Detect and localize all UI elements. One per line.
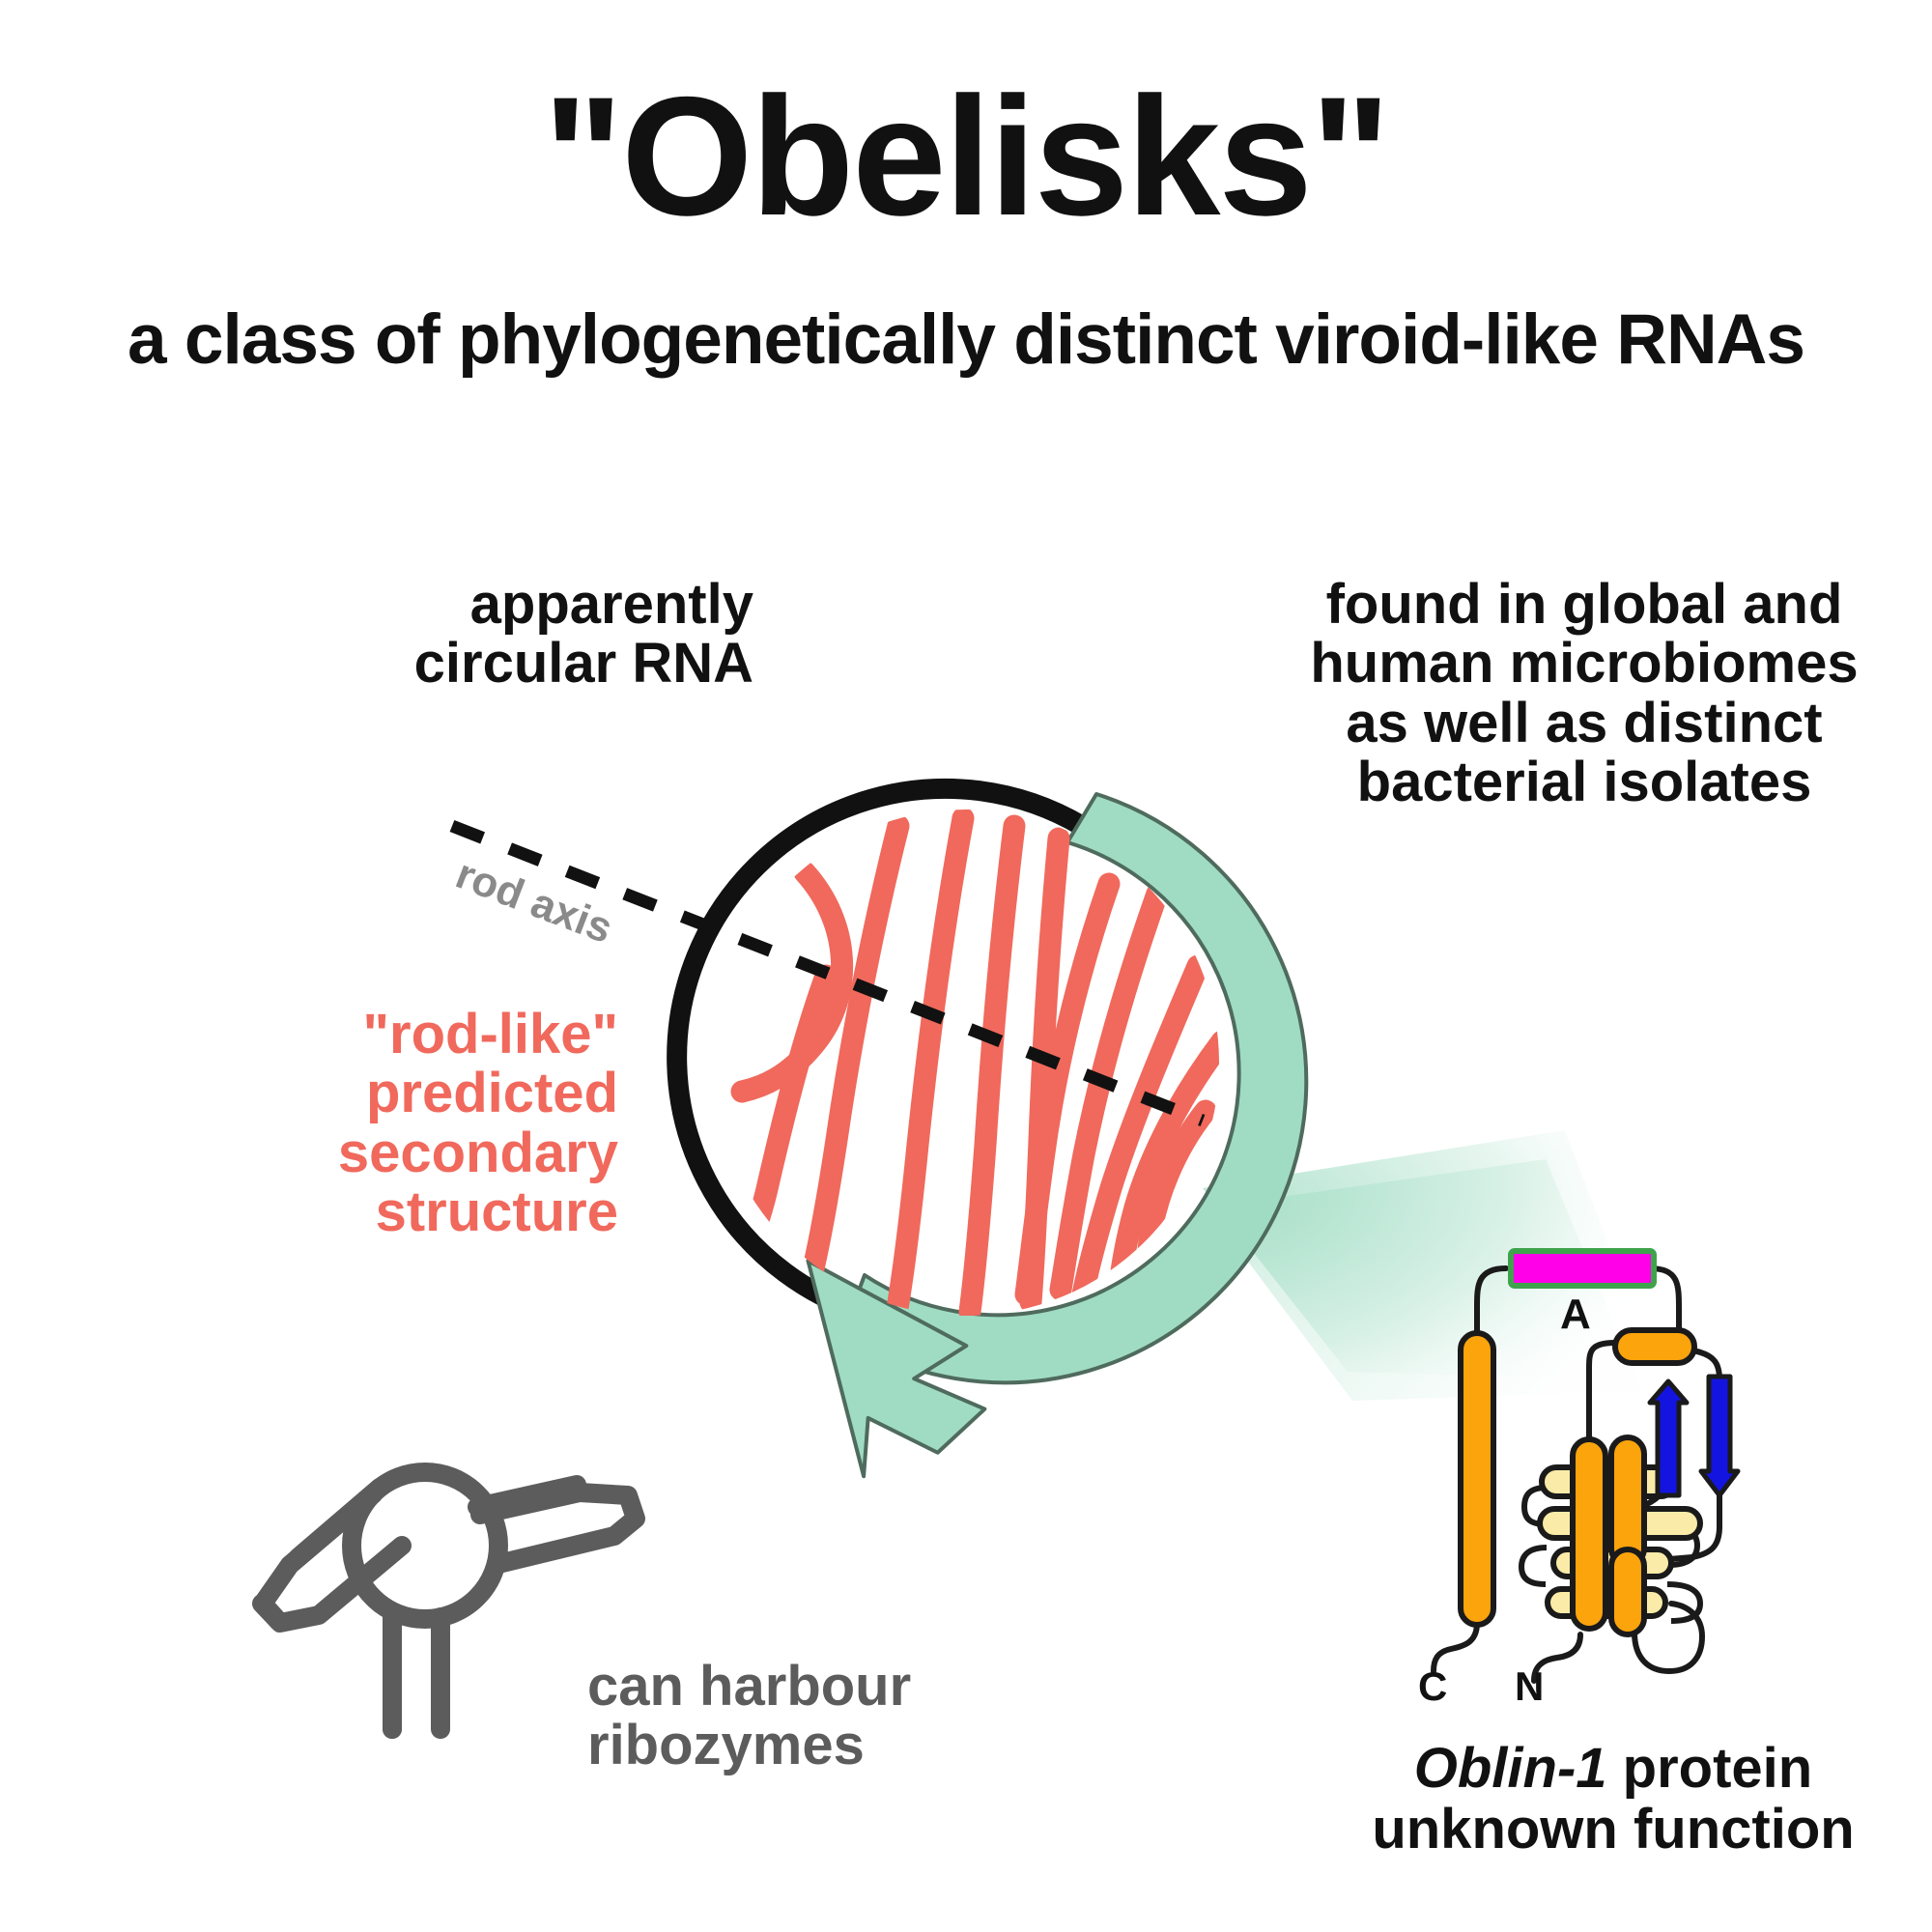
- annotation-oblin-1: Oblin-1 protein unknown function: [1304, 1739, 1922, 1860]
- hammerhead-ribozyme-icon: [262, 1472, 636, 1729]
- annotation-rod-like: "rod-like" predicted secondary structure: [251, 1005, 618, 1242]
- illustration-layer: [0, 0, 1932, 1932]
- domain-a-box: [1511, 1251, 1654, 1286]
- oblin-protein-suffix: protein: [1607, 1737, 1813, 1800]
- rod-like-secondary-structure: [734, 818, 1230, 1325]
- domain-a-label: A: [1560, 1291, 1591, 1339]
- annotation-circular-rna: apparently circular RNA: [290, 575, 753, 694]
- annotation-ribozymes: can harbour ribozymes: [587, 1657, 993, 1776]
- c-terminus-label: C: [1418, 1663, 1447, 1710]
- oblin-line-1: Oblin-1 protein: [1304, 1739, 1922, 1800]
- beta-strands: [1650, 1377, 1738, 1495]
- annotation-found-in: found in global and human microbiomes as…: [1285, 575, 1884, 812]
- oblin-line-2: unknown function: [1304, 1800, 1922, 1861]
- oblin-protein-name: Oblin-1: [1414, 1737, 1607, 1800]
- n-terminus-label: N: [1515, 1663, 1544, 1710]
